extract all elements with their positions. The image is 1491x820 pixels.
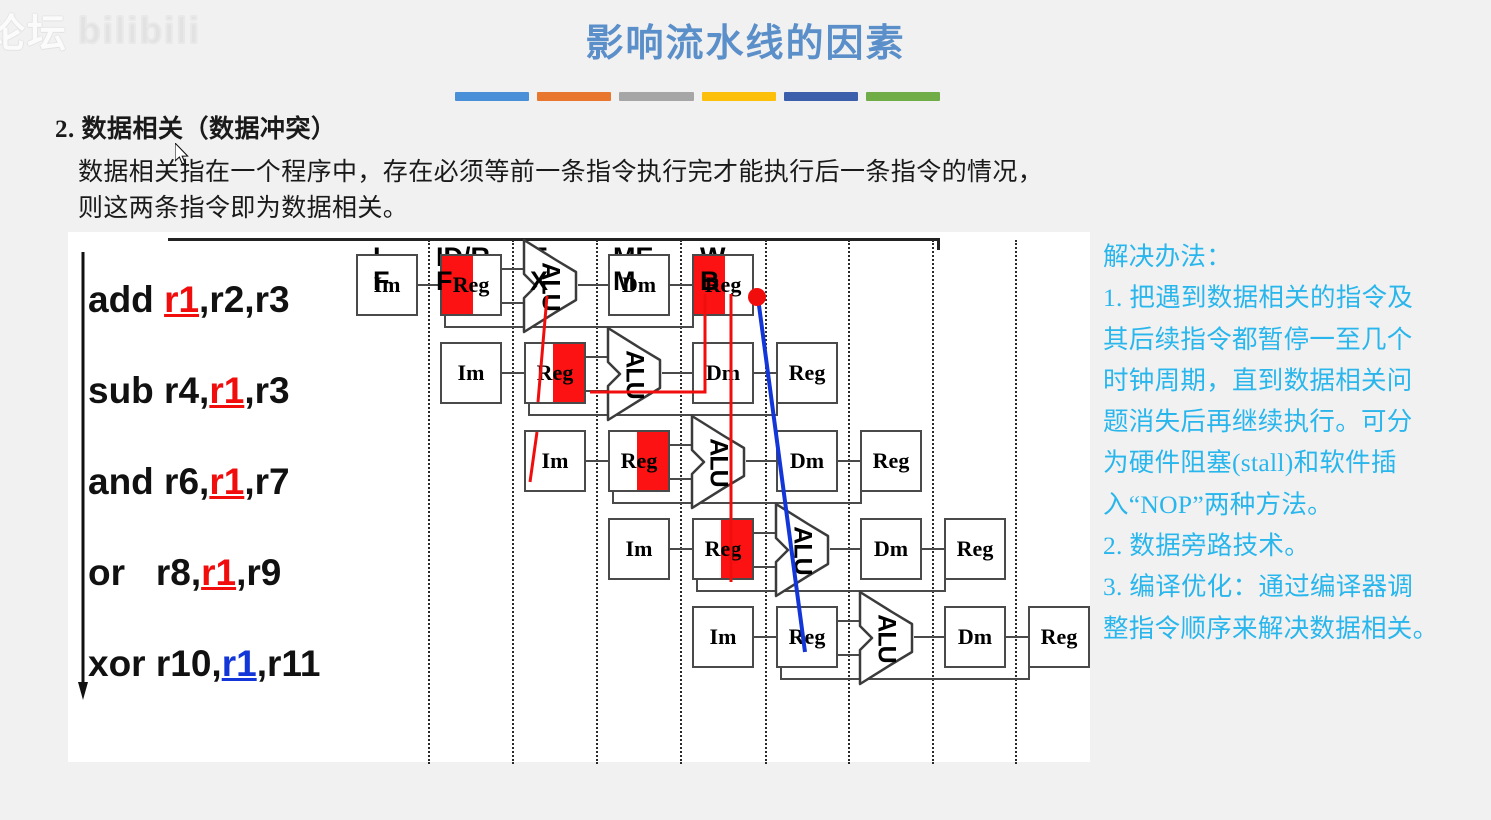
reg-block-row4-label: Reg [705,536,742,562]
instruction-hazard-register-1: r1 [164,279,199,320]
solution-line-1: 1. 把遇到数据相关的指令及 [1103,277,1488,318]
reg-block-row2: Reg [524,342,586,404]
wire-alu-dm-row4 [830,548,864,550]
reg-block-row2-label: Reg [537,360,574,386]
wire-dm-reg-row2 [754,372,776,374]
mouse-cursor-icon [175,143,191,167]
wire-im-reg-row2 [502,372,524,374]
dm-block-row2: Dm [692,342,754,404]
instruction-line-3: and r6,r1,r7 [88,436,320,527]
section-heading: 2. 数据相关（数据冲突） [55,109,337,145]
stage-divider-8 [1015,240,1017,764]
wire-alu-dm-row2 [662,372,696,374]
accent-bar-1 [455,92,529,101]
alu-block-row2: ALU [606,326,662,422]
alu-block-row5: ALU [858,590,914,686]
wire-dm-reg-row5 [1006,636,1028,638]
dm-block-row5-label: Dm [958,624,992,650]
dm-block-row3: Dm [776,430,838,492]
solution-line-6: 入“NOP”两种方法。 [1103,484,1488,525]
wire-dm-reg-row4 [922,548,944,550]
solution-panel: 解决办法： 1. 把遇到数据相关的指令及 其后续指令都暂停一至几个 时钟周期，直… [1103,236,1488,649]
stage-header-bottom-1: F [373,268,390,295]
accent-bar-6 [866,92,940,101]
accent-bar-5 [784,92,858,101]
accent-bar-4 [702,92,776,101]
solution-title: 解决办法： [1103,236,1488,277]
instruction-line-1: add r1,r2,r3 [88,254,320,345]
instruction-operands-1: ,r2,r3 [199,279,290,320]
alu-block-row4: ALU [774,502,830,598]
solution-line-8: 3. 编译优化：通过编译器调 [1103,566,1488,607]
solution-line-4: 题消失后再继续执行。可分 [1103,401,1488,442]
im-block-row3: Im [524,430,586,492]
dm-block-row2-label: Dm [706,360,740,386]
instruction-hazard-register-5: r1 [222,643,257,684]
wb-reg-block-row5: Reg [1028,606,1090,668]
stage-divider-2 [512,240,514,764]
solution-line-3: 时钟周期，直到数据相关问 [1103,360,1488,401]
instruction-line-2: sub r4,r1,r3 [88,345,320,436]
wire-alu-dm-row3 [746,460,780,462]
wire-alu-dm-row5 [914,636,948,638]
stage-divider-1 [428,240,430,764]
wire-im-reg-row4 [670,548,692,550]
im-block-row2-label: Im [458,360,485,386]
instruction-operands-3: ,r7 [244,461,289,502]
instruction-operands-2: ,r3 [244,370,289,411]
instruction-operands-5: ,r11 [257,643,321,684]
diagram-top-tick [937,238,940,250]
stage-divider-7 [932,240,934,764]
instruction-operands-4: ,r9 [236,552,281,593]
instruction-op-5: xor r10, [88,643,222,684]
wire-alu-dm-row1 [578,284,612,286]
solution-line-5: 为硬件阻塞(stall)和软件插 [1103,442,1488,483]
instruction-op-3: and r6, [88,461,209,502]
slide-title: 影响流水线的因素 [0,12,1491,67]
solution-line-9: 整指令顺序来解决数据相关。 [1103,608,1488,649]
im-block-row4: Im [608,518,670,580]
reg-block-row1-label: Reg [453,272,490,298]
dm-block-row5: Dm [944,606,1006,668]
reg-block-row5: Reg [776,606,838,668]
instruction-hazard-register-2: r1 [209,370,244,411]
wb-reg-block-row3: Reg [860,430,922,492]
accent-bar-3 [619,92,693,101]
instruction-hazard-register-3: r1 [209,461,244,502]
reg-block-row4: Reg [692,518,754,580]
reg-block-row3-label: Reg [621,448,658,474]
wb-reg-block-row4-label: Reg [957,536,994,562]
instruction-op-2: sub r4, [88,370,209,411]
stage-divider-3 [596,240,598,764]
solution-line-7: 2. 数据旁路技术。 [1103,525,1488,566]
stage-header-bottom-3: X [530,268,548,295]
dm-block-row4-label: Dm [874,536,908,562]
wb-reg-block-row2: Reg [776,342,838,404]
im-block-row5-label: Im [710,624,737,650]
solution-line-2: 其后续指令都暂停一至几个 [1103,319,1488,360]
instruction-op-1: add [88,279,164,320]
dm-block-row3-label: Dm [790,448,824,474]
wire-dm-reg-row1 [670,284,692,286]
instruction-line-4: or r8,r1,r9 [88,527,320,618]
im-block-row3-label: Im [542,448,569,474]
accent-bar-group [455,92,940,101]
wire-im-reg-row5 [754,636,776,638]
instruction-list: add r1,r2,r3sub r4,r1,r3and r6,r1,r7or r… [88,254,320,709]
stage-header-bottom-4: M [613,268,636,295]
stage-header-bottom-2: F [436,268,453,295]
accent-bar-2 [537,92,611,101]
instruction-line-5: xor r10,r1,r11 [88,618,320,709]
stage-header-bottom-5: B [700,268,720,295]
paragraph-line-2: 则这两条指令即为数据相关。 [78,191,1098,227]
im-block-row2: Im [440,342,502,404]
im-block-row5: Im [692,606,754,668]
section-paragraph: 数据相关指在一个程序中，存在必须等前一条指令执行完才能执行后一条指令的情况， 则… [78,155,1098,227]
wb-reg-block-row4: Reg [944,518,1006,580]
wb-reg-block-row5-label: Reg [1041,624,1078,650]
instruction-hazard-register-4: r1 [201,552,236,593]
wb-reg-block-row2-label: Reg [789,360,826,386]
im-block-row4-label: Im [626,536,653,562]
dm-block-row4: Dm [860,518,922,580]
wire-dm-reg-row3 [838,460,860,462]
instruction-op-4: or r8, [88,552,201,593]
wb-reg-block-row3-label: Reg [873,448,910,474]
wire-im-reg-row3 [586,460,608,462]
paragraph-line-1: 数据相关指在一个程序中，存在必须等前一条指令执行完才能执行后一条指令的情况， [78,155,1098,191]
reg-block-row3: Reg [608,430,670,492]
alu-block-row3: ALU [690,414,746,510]
reg-block-row5-label: Reg [789,624,826,650]
